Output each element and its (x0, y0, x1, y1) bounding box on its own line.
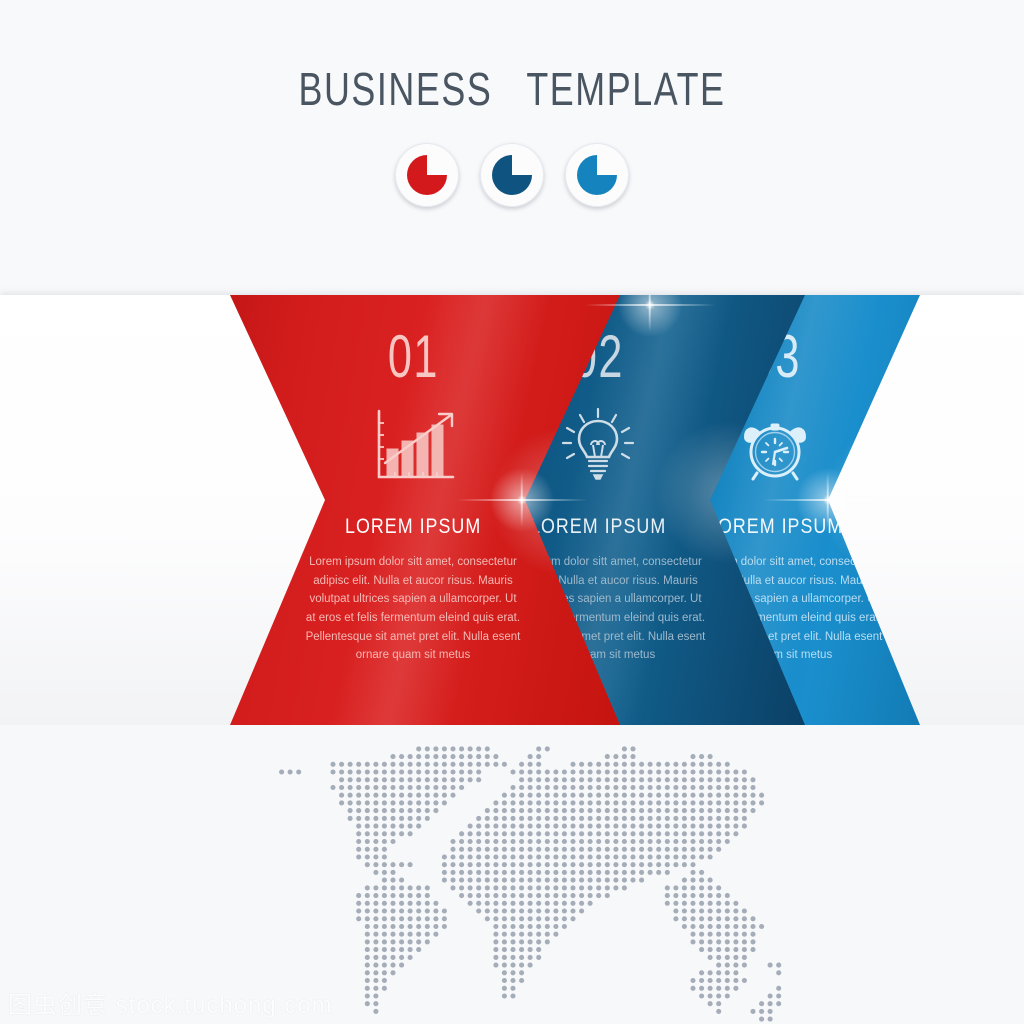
dotted-world-map (243, 745, 783, 1023)
panel-01-body: Lorem ipsum dolor sitt amet, consectetur… (306, 553, 521, 665)
panel-01-title: LOREM IPSUM (345, 515, 481, 539)
lightbulb-icon (560, 401, 636, 489)
pie-badge-blue (565, 143, 629, 207)
panel-01-number: 01 (388, 327, 439, 387)
map-section (0, 725, 1024, 1024)
bar-chart-growth-icon (369, 401, 457, 489)
pie-badge-navy (480, 143, 544, 207)
pie-chart-navy (492, 155, 532, 195)
page-title: BUSINESS TEMPLATE (113, 62, 912, 116)
pie-badge-red (395, 143, 459, 207)
arrow-panels: 03 LOREM IPSUM Lorem ipsum dolor sitt am… (0, 295, 1024, 725)
alarm-clock-icon (739, 401, 811, 489)
header-section: BUSINESS TEMPLATE (0, 0, 1024, 295)
pie-badge-row (0, 143, 1024, 207)
panel-02-title: LOREM IPSUM (530, 515, 666, 539)
pie-chart-red (407, 155, 447, 195)
pie-chart-blue (577, 155, 617, 195)
watermark: 图虫创意 stock.tuchong.com (8, 985, 333, 1020)
panel-03-title: LOREM IPSUM (707, 515, 843, 539)
